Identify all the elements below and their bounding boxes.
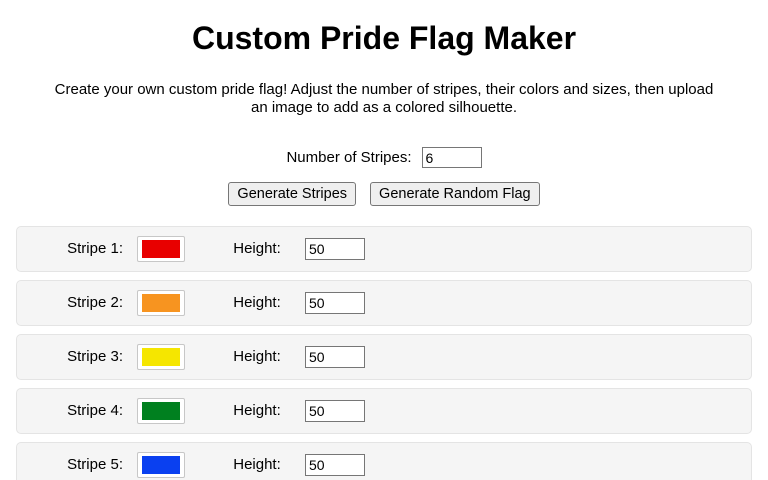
stripe-color-swatch[interactable]: [137, 452, 185, 478]
color-fill: [142, 294, 180, 312]
generate-random-flag-button[interactable]: Generate Random Flag: [370, 182, 540, 206]
stripe-height-input[interactable]: [305, 400, 365, 422]
page-description: Create your own custom pride flag! Adjus…: [50, 57, 718, 117]
stripe-color-swatch[interactable]: [137, 398, 185, 424]
stripe-label: Stripe 4:: [17, 402, 137, 420]
stripe-row: Stripe 3: Height:: [16, 334, 752, 380]
stripe-height-input[interactable]: [305, 454, 365, 476]
stripe-count-input[interactable]: [422, 147, 482, 168]
color-fill: [142, 348, 180, 366]
stripe-row: Stripe 4: Height:: [16, 388, 752, 434]
page-title: Custom Pride Flag Maker: [0, 0, 768, 57]
stripe-label: Stripe 5:: [17, 456, 137, 474]
stripe-label: Stripe 1:: [17, 240, 137, 258]
stripe-count-label: Number of Stripes:: [286, 149, 411, 167]
stripe-height-input[interactable]: [305, 346, 365, 368]
stripe-color-swatch[interactable]: [137, 344, 185, 370]
stripe-row: Stripe 2: Height:: [16, 280, 752, 326]
color-fill: [142, 240, 180, 258]
stripe-list: Stripe 1: Height: Stripe 2: Height: Stri…: [0, 226, 768, 480]
stripe-height-label: Height:: [185, 402, 305, 420]
stripe-height-input[interactable]: [305, 292, 365, 314]
generate-buttons-row: Generate Stripes Generate Random Flag: [0, 182, 768, 206]
stripe-height-label: Height:: [185, 240, 305, 258]
stripe-color-swatch[interactable]: [137, 290, 185, 316]
color-fill: [142, 456, 180, 474]
color-fill: [142, 402, 180, 420]
stripe-height-label: Height:: [185, 294, 305, 312]
stripe-height-label: Height:: [185, 456, 305, 474]
stripe-row: Stripe 5: Height:: [16, 442, 752, 480]
stripe-height-label: Height:: [185, 348, 305, 366]
stripe-label: Stripe 3:: [17, 348, 137, 366]
stripe-row: Stripe 1: Height:: [16, 226, 752, 272]
stripe-count-row: Number of Stripes:: [0, 147, 768, 168]
generate-stripes-button[interactable]: Generate Stripes: [228, 182, 356, 206]
stripe-label: Stripe 2:: [17, 294, 137, 312]
stripe-height-input[interactable]: [305, 238, 365, 260]
stripe-color-swatch[interactable]: [137, 236, 185, 262]
controls-section: Number of Stripes: Generate Stripes Gene…: [0, 147, 768, 206]
app-root: Custom Pride Flag Maker Create your own …: [0, 0, 768, 480]
